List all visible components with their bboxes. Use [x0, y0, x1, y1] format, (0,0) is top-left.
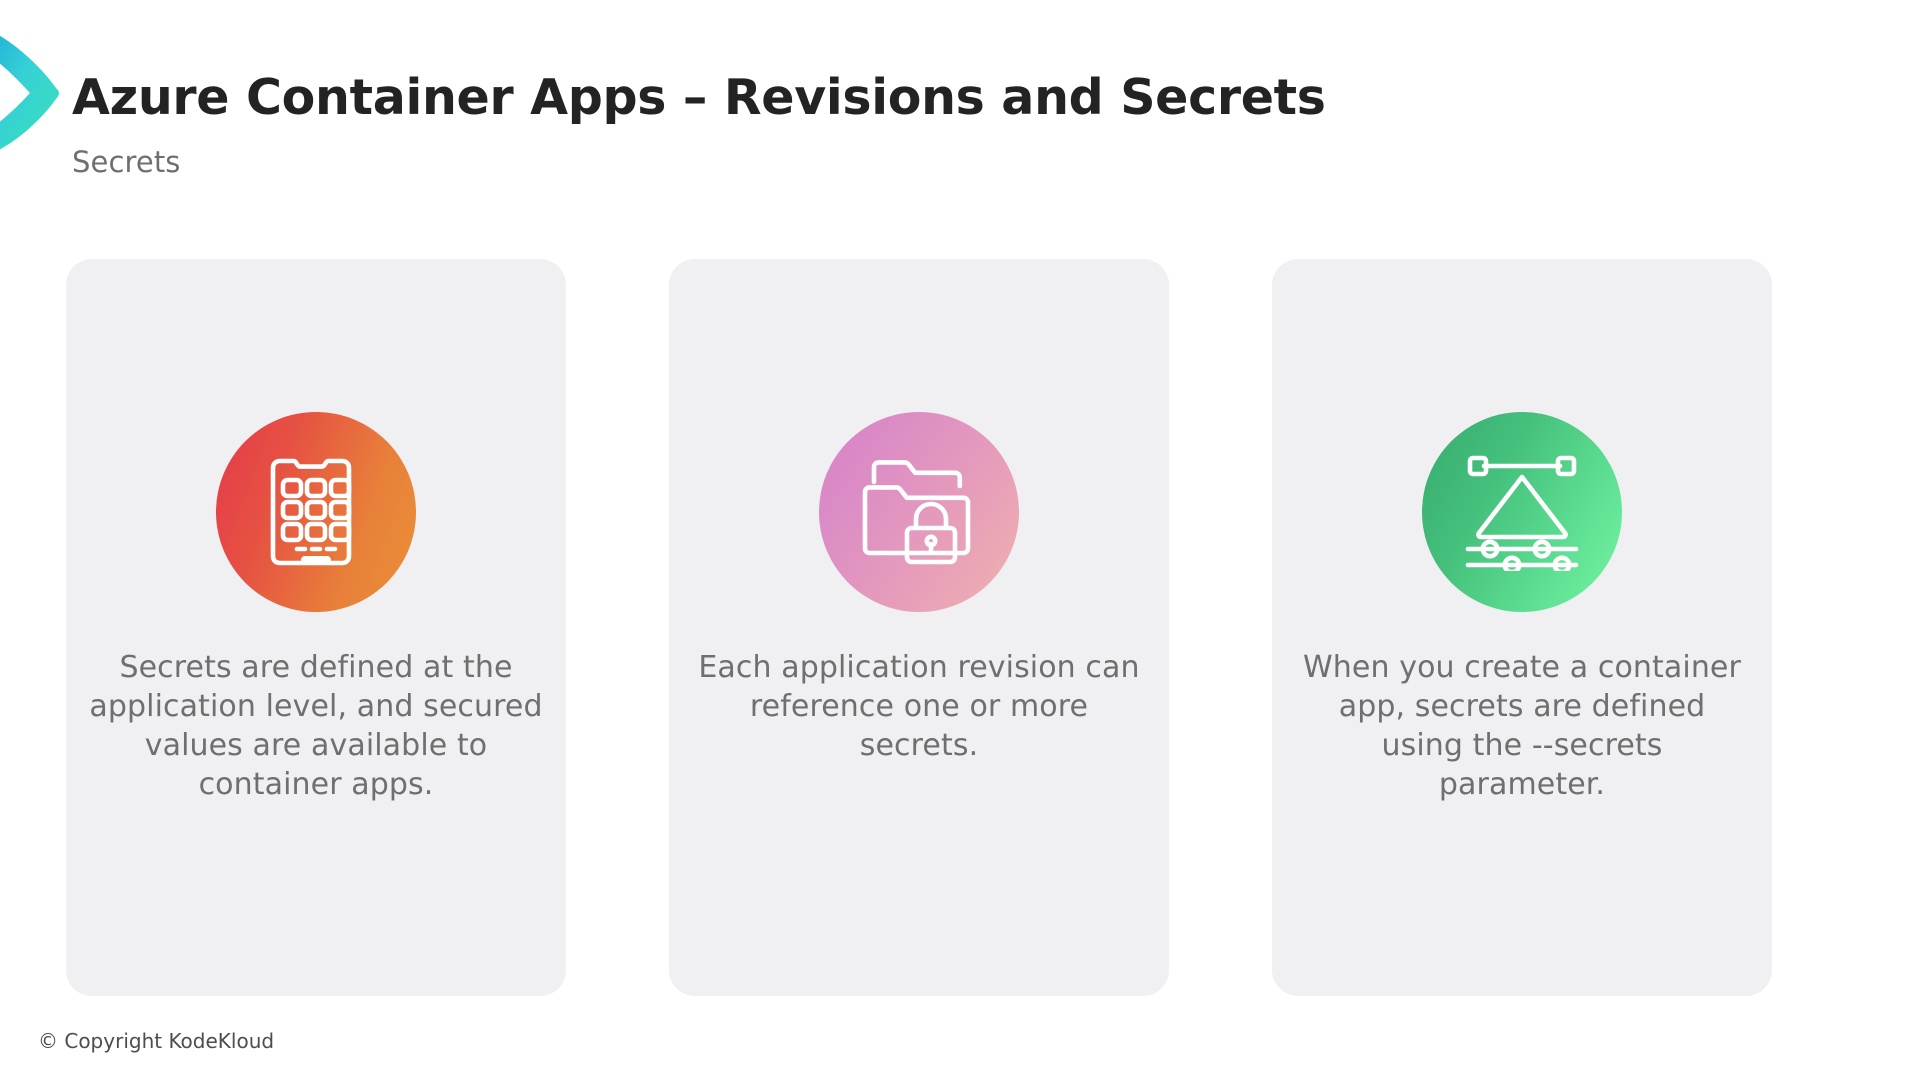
mobile-keypad-icon — [268, 452, 364, 572]
vector-path-sliders-icon — [1462, 453, 1582, 571]
content-cards-row: Secrets are defined at the application l… — [66, 259, 1772, 996]
locked-folder-icon — [860, 456, 978, 568]
locked-folder-icon-badge — [819, 412, 1019, 612]
vector-path-sliders-icon-badge — [1422, 412, 1622, 612]
page-title: Azure Container Apps – Revisions and Sec… — [72, 68, 1772, 128]
brand-logo — [0, 24, 60, 160]
card-text: Each application revision can reference … — [669, 612, 1169, 765]
card-text: Secrets are defined at the application l… — [66, 612, 566, 804]
mobile-keypad-icon-badge — [216, 412, 416, 612]
page-header: Azure Container Apps – Revisions and Sec… — [72, 68, 1772, 180]
card-secrets-application-level: Secrets are defined at the application l… — [66, 259, 566, 996]
chevron-right-logo-icon — [0, 24, 60, 160]
footer-copyright: © Copyright KodeKloud — [38, 1028, 274, 1054]
card-revision-references-secrets: Each application revision can reference … — [669, 259, 1169, 996]
card-text: When you create a container app, secrets… — [1272, 612, 1772, 804]
card-secrets-cli-parameter: When you create a container app, secrets… — [1272, 259, 1772, 996]
page-subtitle: Secrets — [72, 128, 1772, 180]
